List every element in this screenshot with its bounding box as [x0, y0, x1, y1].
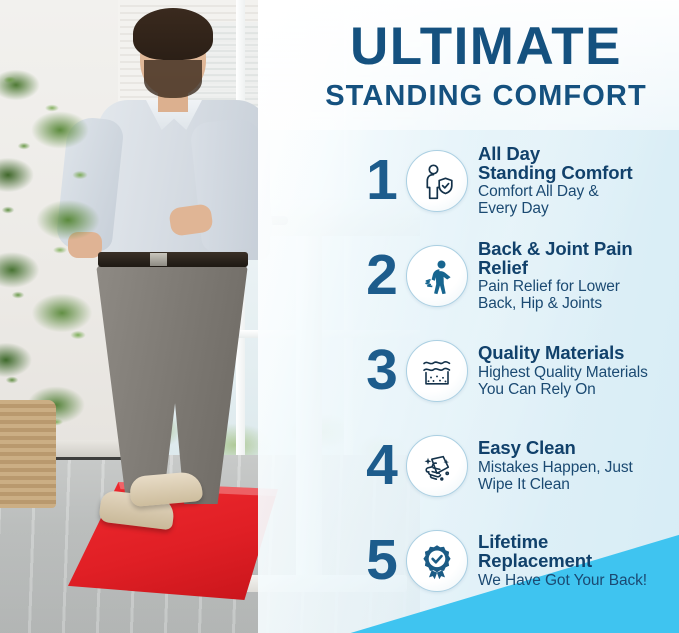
feature-text-4: Easy Clean Mistakes Happen, Just Wipe It…: [476, 438, 679, 492]
feature-text-3: Quality Materials Highest Quality Materi…: [476, 343, 679, 397]
feature-desc-3-line1: Highest Quality Materials: [478, 364, 648, 381]
feature-item-4: 4 Easy Clean Mistakes Happen, Just: [360, 418, 679, 513]
feature-title-3: Quality Materials: [478, 343, 679, 362]
feature-number-5: 5: [360, 532, 404, 589]
feature-desc-1: Comfort All Day & Every Day: [478, 183, 679, 217]
person-shoe-right: [129, 471, 203, 507]
feature-desc-5: We Have Got Your Back!: [478, 572, 679, 589]
feature-title-2-line2: Relief: [478, 257, 528, 278]
hand-wipe-sparkle-icon: [406, 435, 468, 497]
person-shield-icon: [406, 150, 468, 212]
feature-text-2: Back & Joint Pain Relief Pain Relief for…: [476, 239, 679, 313]
feature-number-2: 2: [360, 247, 404, 304]
feature-title-1-line1: All Day: [478, 143, 540, 164]
feature-item-1: 1 All Day Standing Comfort Comfort All D…: [360, 133, 679, 228]
feature-title-5: Lifetime Replacement: [478, 532, 679, 570]
award-badge-check-icon: [406, 530, 468, 592]
feature-number-4: 4: [360, 437, 404, 494]
title-line-2: STANDING COMFORT: [300, 82, 672, 111]
feature-text-1: All Day Standing Comfort Comfort All Day…: [476, 144, 679, 218]
feature-desc-4: Mistakes Happen, Just Wipe It Clean: [478, 459, 679, 493]
feature-title-5-line1: Lifetime: [478, 531, 548, 552]
feature-title-4: Easy Clean: [478, 438, 679, 457]
feature-desc-1-line1: Comfort All Day &: [478, 183, 599, 200]
infographic-canvas: ULTIMATE STANDING COMFORT 1 All Day Stan…: [0, 0, 679, 633]
feature-desc-4-line1: Mistakes Happen, Just: [478, 459, 633, 476]
feature-title-2: Back & Joint Pain Relief: [478, 239, 679, 277]
person-hair: [133, 8, 213, 60]
title-line-1: ULTIMATE: [300, 20, 672, 73]
feature-item-3: 3 Quality Materials High: [360, 323, 679, 418]
foam-layers-icon: [406, 340, 468, 402]
feature-desc-4-line2: Wipe It Clean: [478, 476, 570, 493]
feature-title-5-line2: Replacement: [478, 550, 592, 571]
back-pain-person-icon: [406, 245, 468, 307]
feature-list: 1 All Day Standing Comfort Comfort All D…: [360, 133, 679, 608]
feature-number-3: 3: [360, 342, 404, 399]
woven-plant-basket: [0, 400, 56, 508]
page-title: ULTIMATE STANDING COMFORT: [300, 20, 672, 111]
feature-desc-3: Highest Quality Materials You Can Rely O…: [478, 364, 679, 398]
belt-buckle: [150, 253, 167, 266]
feature-item-2: 2 Back & Joint Pain Relief Pain Relief f…: [360, 228, 679, 323]
feature-desc-2-line1: Pain Relief for Lower: [478, 278, 620, 295]
feature-desc-1-line2: Every Day: [478, 200, 549, 217]
feature-desc-3-line2: You Can Rely On: [478, 381, 596, 398]
feature-desc-2-line2: Back, Hip & Joints: [478, 295, 602, 312]
feature-number-1: 1: [360, 152, 404, 209]
feature-title-1-line2: Standing Comfort: [478, 162, 633, 183]
feature-title-2-line1: Back & Joint Pain: [478, 238, 633, 259]
person-beard: [144, 60, 202, 98]
feature-title-1: All Day Standing Comfort: [478, 144, 679, 182]
feature-desc-2: Pain Relief for Lower Back, Hip & Joints: [478, 278, 679, 312]
feature-item-5: 5 Lifetime Replacement We Have Got Your …: [360, 513, 679, 608]
feature-text-5: Lifetime Replacement We Have Got Your Ba…: [476, 532, 679, 589]
